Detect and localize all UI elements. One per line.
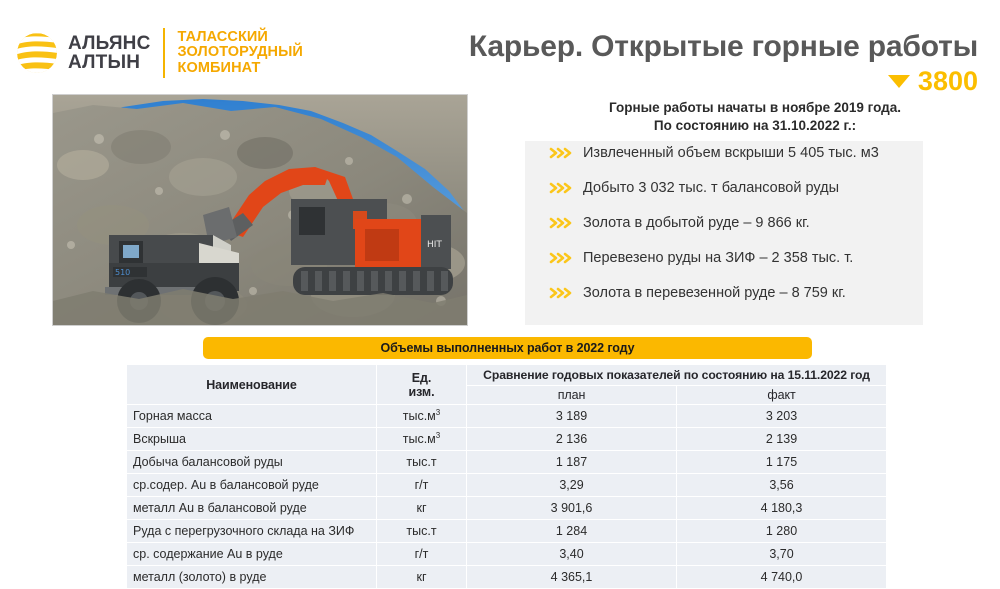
triple-chevron-right-icon: [549, 144, 583, 160]
cell-name: Вскрыша: [127, 428, 377, 451]
brand-subtitle-line2: ЗОЛОТОРУДНЫЙ: [178, 45, 303, 61]
brand-logo: АЛЬЯНС АЛТЫН ТАЛАССКИЙ ЗОЛОТОРУДНЫЙ КОМБ…: [14, 22, 334, 84]
summary-subtitle: Горные работы начаты в ноябре 2019 года.…: [520, 99, 990, 135]
brand-name: АЛЬЯНС АЛТЫН: [68, 34, 151, 72]
cell-name: металл (золото) в руде: [127, 566, 377, 589]
cell-fact: 3,56: [677, 474, 887, 497]
triple-chevron-right-icon: [549, 284, 583, 300]
cell-fact: 1 280: [677, 520, 887, 543]
table-row: Вскрыша тыс.м3 2 136 2 139: [127, 428, 887, 451]
sun-waves-logo-icon: [14, 30, 60, 76]
cell-fact: 3 203: [677, 405, 887, 428]
triple-chevron-right-icon: [549, 214, 583, 230]
cell-plan: 1 284: [467, 520, 677, 543]
list-item-label: Добыто 3 032 тыс. т балансовой руды: [583, 179, 839, 198]
cell-fact: 4 180,3: [677, 497, 887, 520]
cell-unit-exponent: 3: [436, 408, 440, 417]
column-header-unit: Ед. изм.: [377, 365, 467, 405]
cell-plan: 3 189: [467, 405, 677, 428]
cell-unit-text: тыс.т: [406, 525, 436, 539]
list-item-label: Перевезено руды на ЗИФ – 2 358 тыс. т.: [583, 249, 853, 268]
column-header-fact: факт: [677, 386, 887, 405]
cell-plan: 1 187: [467, 451, 677, 474]
cell-plan: 2 136: [467, 428, 677, 451]
cell-plan: 3,40: [467, 543, 677, 566]
cell-unit-text: кг: [416, 502, 426, 516]
table-row: ср. содержание Au в руде г/т 3,40 3,70: [127, 543, 887, 566]
table-header-row: Наименование Ед. изм. Сравнение годовых …: [127, 365, 887, 386]
cell-unit: тыс.т: [377, 520, 467, 543]
cell-plan: 3,29: [467, 474, 677, 497]
quarry-photo: HIT 51: [52, 94, 468, 326]
cell-fact: 1 175: [677, 451, 887, 474]
cell-unit: кг: [377, 566, 467, 589]
triple-chevron-right-icon: [549, 179, 583, 195]
summary-bullet-list: Извлеченный объем вскрыши 5 405 тыс. м3 …: [549, 144, 979, 319]
cell-name: Руда с перегрузочного склада на ЗИФ: [127, 520, 377, 543]
section-banner: Объемы выполненных работ в 2022 году: [203, 337, 812, 359]
list-item-label: Извлеченный объем вскрыши 5 405 тыс. м3: [583, 144, 879, 163]
svg-text:510: 510: [115, 268, 130, 277]
table-row: металл Au в балансовой руде кг 3 901,6 4…: [127, 497, 887, 520]
page-title: Карьер. Открытые горные работы: [469, 30, 978, 64]
table-row: ср.содер. Au в балансовой руде г/т 3,29 …: [127, 474, 887, 497]
column-header-unit-line1: Ед.: [412, 371, 431, 385]
list-item: Золота в добытой руде – 9 866 кг.: [549, 214, 979, 249]
svg-text:HIT: HIT: [427, 240, 442, 250]
elevation-marker: 3800: [888, 68, 978, 95]
list-item: Извлеченный объем вскрыши 5 405 тыс. м3: [549, 144, 979, 179]
list-item-label: Золота в добытой руде – 9 866 кг.: [583, 214, 810, 233]
cell-unit-text: тыс.т: [406, 456, 436, 470]
cell-unit-text: г/т: [415, 548, 429, 562]
list-item-label: Золота в перевезенной руде – 8 759 кг.: [583, 284, 846, 303]
cell-unit-text: г/т: [415, 479, 429, 493]
cell-unit-text: тыс.м: [403, 410, 436, 424]
triangle-down-icon: [888, 75, 910, 88]
list-item: Золота в перевезенной руде – 8 759 кг.: [549, 284, 979, 319]
section-banner-label: Объемы выполненных работ в 2022 году: [380, 341, 634, 355]
table-row: Горная масса тыс.м3 3 189 3 203: [127, 405, 887, 428]
brand-name-line2: АЛТЫН: [68, 53, 151, 72]
cell-unit-text: кг: [416, 571, 426, 585]
cell-unit: кг: [377, 497, 467, 520]
works-volume-table: Наименование Ед. изм. Сравнение годовых …: [126, 364, 887, 589]
table-row: Руда с перегрузочного склада на ЗИФ тыс.…: [127, 520, 887, 543]
brand-name-line1: АЛЬЯНС: [68, 34, 151, 53]
slide-root: АЛЬЯНС АЛТЫН ТАЛАССКИЙ ЗОЛОТОРУДНЫЙ КОМБ…: [0, 0, 1000, 563]
column-header-name: Наименование: [127, 365, 377, 405]
cell-unit: тыс.м3: [377, 428, 467, 451]
column-header-plan: план: [467, 386, 677, 405]
column-header-unit-line2: изм.: [409, 385, 435, 399]
cell-plan: 4 365,1: [467, 566, 677, 589]
brand-subtitle: ТАЛАССКИЙ ЗОЛОТОРУДНЫЙ КОМБИНАТ: [178, 30, 303, 77]
list-item: Добыто 3 032 тыс. т балансовой руды: [549, 179, 979, 214]
column-header-group: Сравнение годовых показателей по состоян…: [467, 365, 887, 386]
triple-chevron-right-icon: [549, 249, 583, 265]
summary-subtitle-line2: По состоянию на 31.10.2022 г.:: [520, 117, 990, 135]
cell-fact: 2 139: [677, 428, 887, 451]
elevation-value: 3800: [918, 68, 978, 95]
cell-name: ср. содержание Au в руде: [127, 543, 377, 566]
cell-name: Горная масса: [127, 405, 377, 428]
cell-plan: 3 901,6: [467, 497, 677, 520]
cell-unit: г/т: [377, 474, 467, 497]
cell-unit: тыс.т: [377, 451, 467, 474]
cell-fact: 3,70: [677, 543, 887, 566]
cell-unit-exponent: 3: [436, 431, 440, 440]
cell-name: Добыча балансовой руды: [127, 451, 377, 474]
brand-subtitle-line1: ТАЛАССКИЙ: [178, 30, 303, 46]
brand-subtitle-line3: КОМБИНАТ: [178, 61, 303, 77]
logo-divider: [163, 28, 165, 78]
cell-unit: тыс.м3: [377, 405, 467, 428]
table-row: металл (золото) в руде кг 4 365,1 4 740,…: [127, 566, 887, 589]
cell-unit-text: тыс.м: [403, 433, 436, 447]
cell-name: ср.содер. Au в балансовой руде: [127, 474, 377, 497]
table-row: Добыча балансовой руды тыс.т 1 187 1 175: [127, 451, 887, 474]
cell-unit: г/т: [377, 543, 467, 566]
list-item: Перевезено руды на ЗИФ – 2 358 тыс. т.: [549, 249, 979, 284]
summary-subtitle-line1: Горные работы начаты в ноябре 2019 года.: [520, 99, 990, 117]
cell-fact: 4 740,0: [677, 566, 887, 589]
cell-name: металл Au в балансовой руде: [127, 497, 377, 520]
